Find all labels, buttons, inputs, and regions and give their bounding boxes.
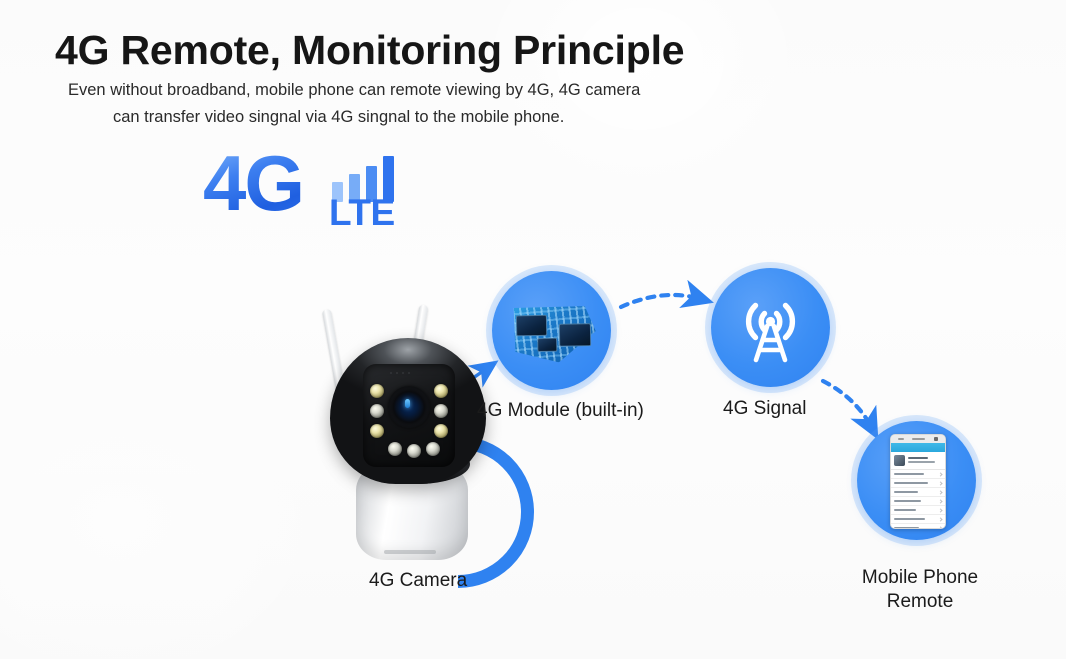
list-item <box>891 470 945 479</box>
camera-led <box>407 444 421 458</box>
node-4g-signal[interactable] <box>711 268 830 387</box>
list-item <box>891 497 945 506</box>
infographic-page: 4G Remote, Monitoring Principle Even wit… <box>0 0 1066 659</box>
camera-face-plate <box>363 364 455 467</box>
list-item <box>891 506 945 515</box>
phone-account-text <box>908 457 942 465</box>
camera-led <box>426 442 440 456</box>
pcb-chip <box>559 323 591 347</box>
camera-led <box>370 404 384 418</box>
circuit-board-icon <box>504 291 599 370</box>
phone-account-row <box>891 452 945 470</box>
list-item <box>891 479 945 488</box>
camera-led <box>434 424 448 438</box>
pcb-chip <box>537 338 557 352</box>
camera-led <box>370 384 384 398</box>
microphone-icon <box>389 371 411 375</box>
label-4g-module: 4G Module (built-in) <box>477 400 644 422</box>
4g-camera-device <box>312 296 502 564</box>
node-mobile-phone[interactable] <box>857 421 976 540</box>
list-item <box>891 515 945 524</box>
camera-led <box>370 424 384 438</box>
node-4g-module[interactable] <box>492 271 611 390</box>
label-4g-signal: 4G Signal <box>723 398 806 420</box>
camera-led <box>434 404 448 418</box>
principle-diagram: 4G Module (built-in) 4G Signal 4G Camera… <box>0 0 1066 659</box>
pcb-chip <box>516 315 547 337</box>
arrow-module-to-signal <box>621 295 701 307</box>
camera-led <box>388 442 402 456</box>
camera-led <box>434 384 448 398</box>
list-item <box>891 524 945 529</box>
label-mobile-phone-line-2: Remote <box>855 590 985 614</box>
label-mobile-phone-line-1: Mobile Phone <box>855 566 985 590</box>
camera-lens <box>388 386 430 428</box>
arrow-signal-to-phone <box>823 381 872 428</box>
label-mobile-phone-remote: Mobile Phone Remote <box>855 566 985 614</box>
phone-status-bar <box>891 435 945 443</box>
phone-app-banner <box>891 443 945 452</box>
signal-tower-icon <box>731 288 810 367</box>
camera-base-seam <box>384 550 436 554</box>
smartphone-icon <box>890 434 946 529</box>
label-4g-camera: 4G Camera <box>369 570 467 592</box>
camera-head <box>330 338 486 484</box>
list-item <box>891 488 945 497</box>
avatar <box>894 455 905 466</box>
